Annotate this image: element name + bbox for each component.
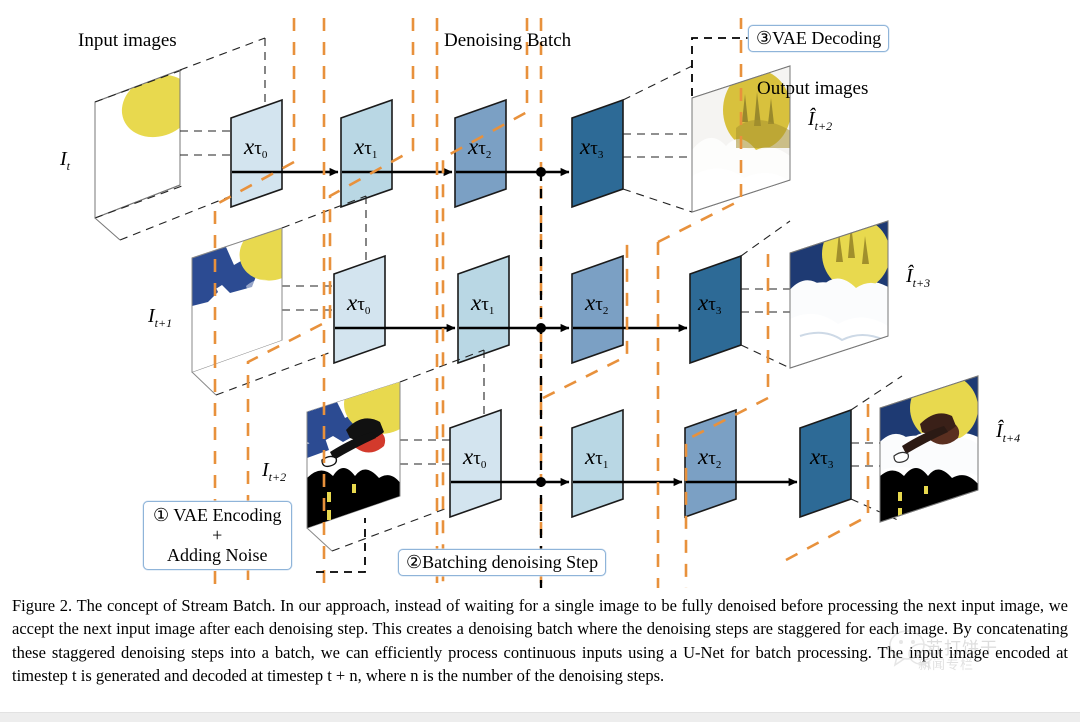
latent-tau-r2-s3: τ (708, 294, 716, 315)
latent-x-r1-s3: x (580, 134, 590, 159)
latent-step-r3-s0: 0 (481, 459, 487, 471)
latent-x-r1-s0: x (244, 134, 254, 159)
latent-label-r2-s1: xτ1 (471, 290, 494, 317)
input-label-row2-text: I (148, 305, 155, 327)
latent-label-r3-s0: xτ0 (463, 444, 486, 471)
latent-step-r3-s1: 1 (603, 459, 609, 471)
output-label-row3-text: Î (996, 420, 1003, 442)
latent-label-r2-s3: xτ3 (698, 290, 721, 317)
latent-label-r3-s2: xτ2 (698, 444, 721, 471)
output-sub-row3: t+4 (1003, 431, 1020, 445)
latent-tau-r3-s3: τ (820, 448, 828, 469)
input-label-row1: It (60, 148, 70, 174)
output-sub-row2: t+3 (913, 276, 930, 290)
diagram-canvas (0, 0, 1080, 588)
latent-label-r1-s0: xτ0 (244, 134, 267, 161)
latent-step-r1-s2: 2 (486, 149, 492, 161)
latent-x-r3-s1: x (585, 444, 595, 469)
latent-step-r2-s0: 0 (365, 305, 371, 317)
figure-caption: Figure 2. The concept of Stream Batch. I… (0, 588, 1080, 708)
latent-x-r2-s2: x (585, 290, 595, 315)
output-label-row1-text: Î (808, 108, 815, 130)
latent-x-r2-s1: x (471, 290, 481, 315)
latent-x-r3-s0: x (463, 444, 473, 469)
output-label-row1: Ît+2 (808, 108, 832, 134)
latent-x-r3-s2: x (698, 444, 708, 469)
latent-step-r1-s1: 1 (372, 149, 378, 161)
latent-label-r1-s1: xτ1 (354, 134, 377, 161)
callout-vae-decoding[interactable]: ③VAE Decoding (748, 25, 889, 52)
callout-1-number: ① (153, 505, 169, 525)
latent-step-r3-s2: 2 (716, 459, 722, 471)
input-sub-row1: t (67, 159, 70, 173)
latent-step-r1-s0: 0 (262, 149, 268, 161)
latent-tau-r3-s0: τ (473, 448, 481, 469)
output-label-row3: Ît+4 (996, 420, 1020, 446)
callout-vae-encoding[interactable]: ① VAE Encoding + Adding Noise (143, 501, 292, 570)
heading-output-images: Output images (757, 78, 868, 100)
latent-label-r3-s1: xτ1 (585, 444, 608, 471)
callout-3-number: ③ (756, 28, 772, 48)
latent-step-r2-s2: 2 (603, 305, 609, 317)
callout-2-label: Batching denoising Step (422, 552, 598, 572)
callout-batching-step[interactable]: ②Batching denoising Step (398, 549, 606, 576)
latent-label-r1-s3: xτ3 (580, 134, 603, 161)
heading-denoising-batch: Denoising Batch (444, 30, 571, 52)
latent-tau-r2-s2: τ (595, 294, 603, 315)
output-label-row2-text: Î (906, 265, 913, 287)
latent-tau-r2-s0: τ (357, 294, 365, 315)
caption-prefix: Figure 2. (12, 596, 72, 615)
latent-label-r1-s2: xτ2 (468, 134, 491, 161)
latent-x-r1-s2: x (468, 134, 478, 159)
heading-input-images: Input images (78, 30, 177, 52)
latent-tau-r1-s2: τ (478, 138, 486, 159)
figure-page: Input images Denoising Batch Output imag… (0, 0, 1080, 721)
input-sub-row3: t+2 (269, 470, 286, 484)
callout-1-label: VAE Encoding (173, 505, 281, 525)
stream-batch-diagram: Input images Denoising Batch Output imag… (0, 0, 1080, 588)
caption-text: The concept of Stream Batch. In our appr… (12, 596, 1068, 685)
latent-tau-r3-s1: τ (595, 448, 603, 469)
latent-label-r2-s0: xτ0 (347, 290, 370, 317)
latent-row1 (231, 100, 623, 207)
latent-x-r3-s3: x (810, 444, 820, 469)
latent-tau-r1-s1: τ (364, 138, 372, 159)
output-cuboid-row2 (741, 214, 890, 374)
callout-1-line3: Adding Noise (153, 545, 282, 565)
latent-tau-r3-s2: τ (708, 448, 716, 469)
latent-row3 (450, 410, 851, 517)
output-label-row2: Ît+3 (906, 265, 930, 291)
input-label-row3-text: I (262, 459, 269, 481)
callout-3-label: VAE Decoding (772, 28, 881, 48)
input-label-row1-text: I (60, 148, 67, 170)
latent-tau-r2-s1: τ (481, 294, 489, 315)
latent-tau-r1-s3: τ (590, 138, 598, 159)
callout-2-number: ② (406, 552, 422, 572)
input-sub-row2: t+1 (155, 316, 172, 330)
latent-x-r1-s1: x (354, 134, 364, 159)
latent-step-r2-s3: 3 (716, 305, 722, 317)
input-label-row2: It+1 (148, 305, 172, 331)
output-sub-row1: t+2 (815, 119, 832, 133)
latent-label-r2-s2: xτ2 (585, 290, 608, 317)
callout-1-plus: + (153, 525, 282, 545)
latent-step-r1-s3: 3 (598, 149, 604, 161)
latent-tau-r1-s0: τ (254, 138, 262, 159)
input-label-row3: It+2 (262, 459, 286, 485)
latent-step-r2-s1: 1 (489, 305, 495, 317)
callout-1-line1-wrap: ① VAE Encoding (153, 505, 282, 525)
latent-step-r3-s3: 3 (828, 459, 834, 471)
latent-x-r2-s3: x (698, 290, 708, 315)
output-cuboid-row3 (851, 370, 980, 528)
latent-label-r3-s3: xτ3 (810, 444, 833, 471)
latent-x-r2-s0: x (347, 290, 357, 315)
latent-row2 (334, 256, 741, 363)
